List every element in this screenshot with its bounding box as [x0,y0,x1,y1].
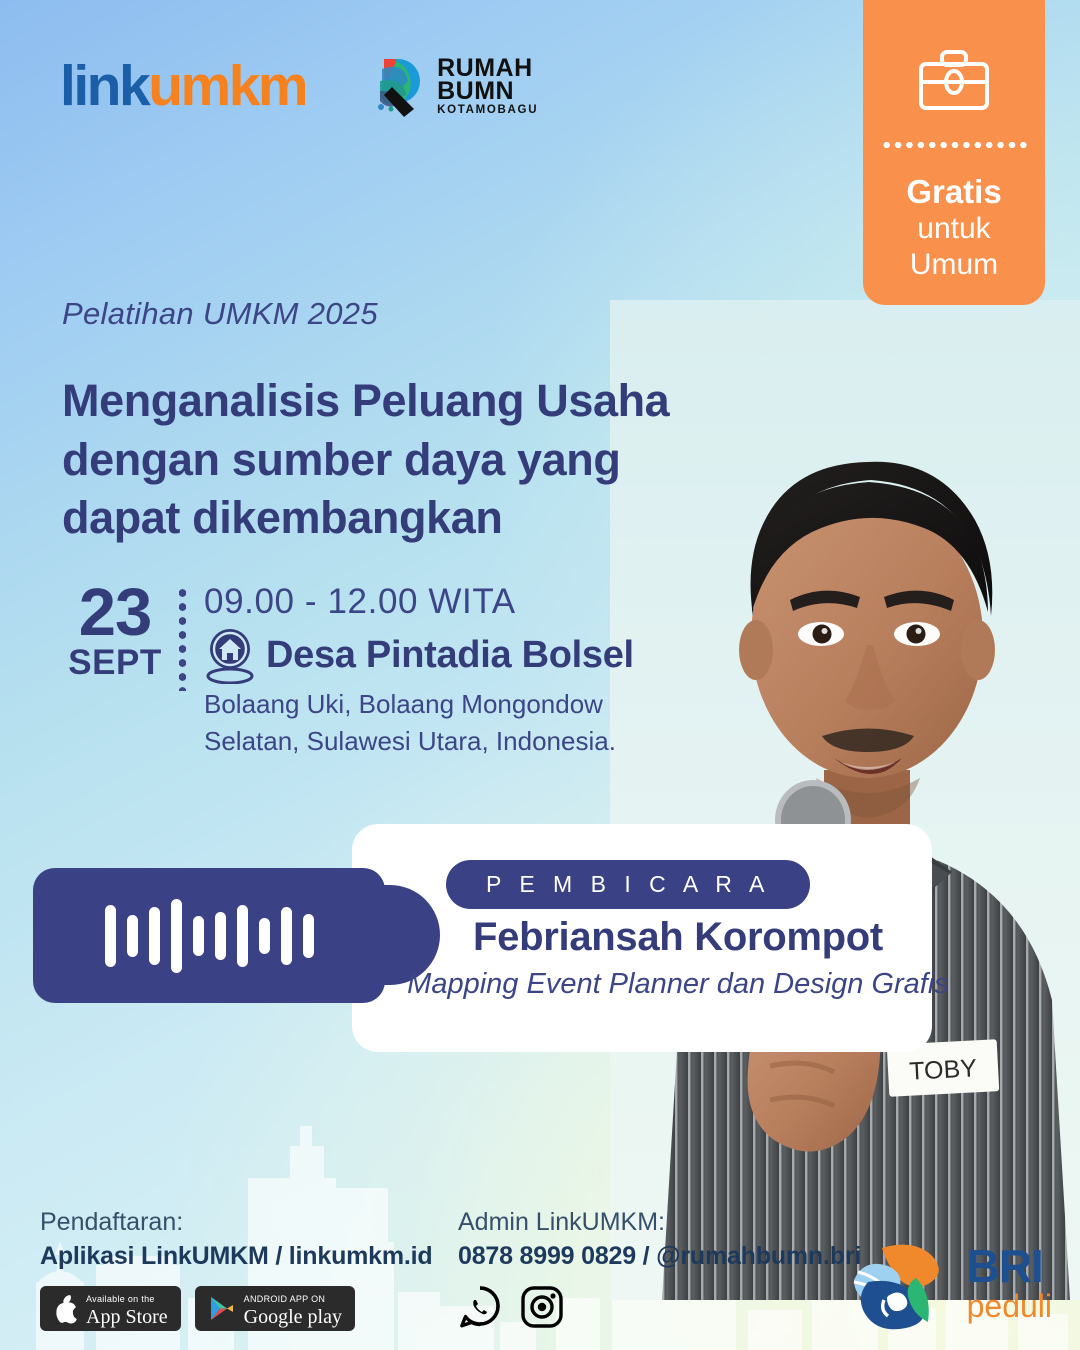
event-date: 23 SEPT [55,578,175,682]
apple-icon [53,1294,78,1324]
rumah-bumn-line2: BUMN [437,80,538,103]
badge-dotted-divider [881,142,1027,148]
bri-peduli-mark-icon [844,1238,956,1330]
audio-waveform-icon [33,868,385,1003]
google-play-badge[interactable]: ANDROID APP ON Google play [195,1286,355,1331]
svg-text:TOBY: TOBY [909,1054,978,1086]
badge-line-1: Gratis [906,174,1001,211]
waveform-bar [259,918,270,954]
instagram-icon[interactable] [520,1285,564,1329]
event-kicker: Pelatihan UMKM 2025 [62,296,378,332]
event-venue: Desa Pintadia Bolsel [266,634,634,677]
linkumkm-logo: linkumkm [60,58,306,115]
linkumkm-logo-umkm: umkm [148,54,306,118]
app-store-title: App Store [86,1306,168,1328]
admin-label: Admin LinkUMKM: [458,1208,861,1237]
registration-value: Aplikasi LinkUMKM / linkumkm.id [40,1242,432,1271]
waveform-bar [149,907,160,965]
waveform-bar [171,899,182,973]
admin-value: 0878 8999 0829 / @rumahbumn.bri [458,1242,861,1271]
whatsapp-icon[interactable] [458,1285,502,1329]
waveform-bar [127,915,138,957]
event-datetime-block: 23 SEPT 09.00 - 12.00 WITA Desa Pintadia… [55,578,634,760]
event-day: 23 [55,582,175,644]
rumah-bumn-logo: RUMAH BUMN KOTAMOBAGU [366,55,538,117]
google-play-icon [208,1294,236,1324]
badge-line-2: untuk [917,211,990,247]
waveform-bar [237,905,248,967]
waveform-bar [193,916,204,956]
registration-info: Pendaftaran: Aplikasi LinkUMKM / linkumk… [40,1208,432,1331]
briefcase-icon [917,48,991,112]
event-address-line-1: Bolaang Uki, Bolaang Mongondow [204,686,634,723]
rumah-bumn-city: KOTAMOBAGU [437,105,538,116]
speaker-role: Mapping Event Planner dan Design Grafis [398,968,958,1001]
speaker-tag: P E M B I C A R A [446,860,810,909]
waveform-bar [215,912,226,960]
waveform-bar [105,905,116,967]
header-logos: linkumkm RUMAH BUMN KOTAMOBAGU [60,55,538,117]
rumah-bumn-mark-icon [366,55,428,117]
bri-peduli-logo: BRI peduli [844,1238,1052,1330]
speaker-name: Febriansah Korompot [428,915,928,960]
waveform-bar [281,907,292,965]
badge-line-3: Umum [910,247,998,283]
admin-contact-info: Admin LinkUMKM: 0878 8999 0829 / @rumahb… [458,1208,861,1329]
waveform-bar [303,914,314,958]
event-address-line-2: Selatan, Sulawesi Utara, Indonesia. [204,723,634,760]
google-play-subtitle: ANDROID APP ON [244,1294,326,1304]
app-store-subtitle: Available on the [86,1294,155,1304]
bri-wordmark: BRI [967,1246,1052,1287]
free-admission-badge: Gratis untuk Umum [863,0,1045,305]
vertical-dotted-divider [179,586,186,691]
peduli-wordmark: peduli [967,1290,1052,1322]
app-store-badge[interactable]: Available on the App Store [40,1286,181,1331]
linkumkm-logo-link: link [60,54,148,118]
registration-label: Pendaftaran: [40,1208,432,1237]
waveform-badge [33,868,385,1003]
google-play-title: Google play [244,1306,342,1328]
event-month: SEPT [55,644,175,683]
page-title: Menganalisis Peluang Usaha dengan sumber… [62,372,742,548]
event-time: 09.00 - 12.00 WITA [204,582,634,622]
location-home-pin-icon [204,626,256,684]
